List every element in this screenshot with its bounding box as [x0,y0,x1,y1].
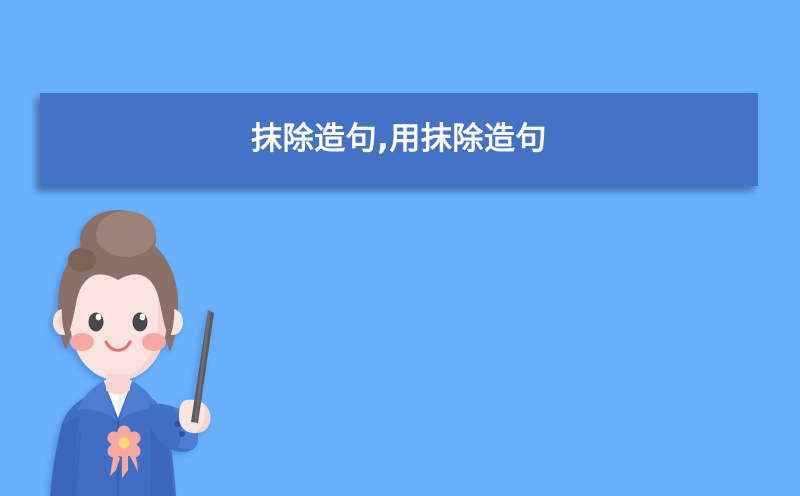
hair-bun-base [68,248,96,272]
head [53,210,183,395]
title-banner: 抹除造句,用抹除造句 [40,93,758,186]
page-root: 抹除造句,用抹除造句 [0,0,800,496]
badge-petal-3 [108,445,121,458]
neck [106,374,130,395]
cuff-button-bottom [179,431,185,437]
teacher-illustration [18,218,248,496]
badge-petal-5 [118,426,131,439]
eye-right-highlight [140,314,146,321]
eye-left [89,313,104,332]
badge-center [119,438,130,449]
cheek-left [70,333,94,351]
badge-petal-4 [128,445,141,458]
cheek-right [142,333,166,351]
page-title: 抹除造句,用抹除造句 [251,124,547,155]
hair-bun-highlight [96,211,156,257]
teacher-body-group [50,210,214,496]
teacher-figure-svg [18,218,248,496]
eye-right [133,313,148,332]
eye-left-highlight [96,314,102,321]
